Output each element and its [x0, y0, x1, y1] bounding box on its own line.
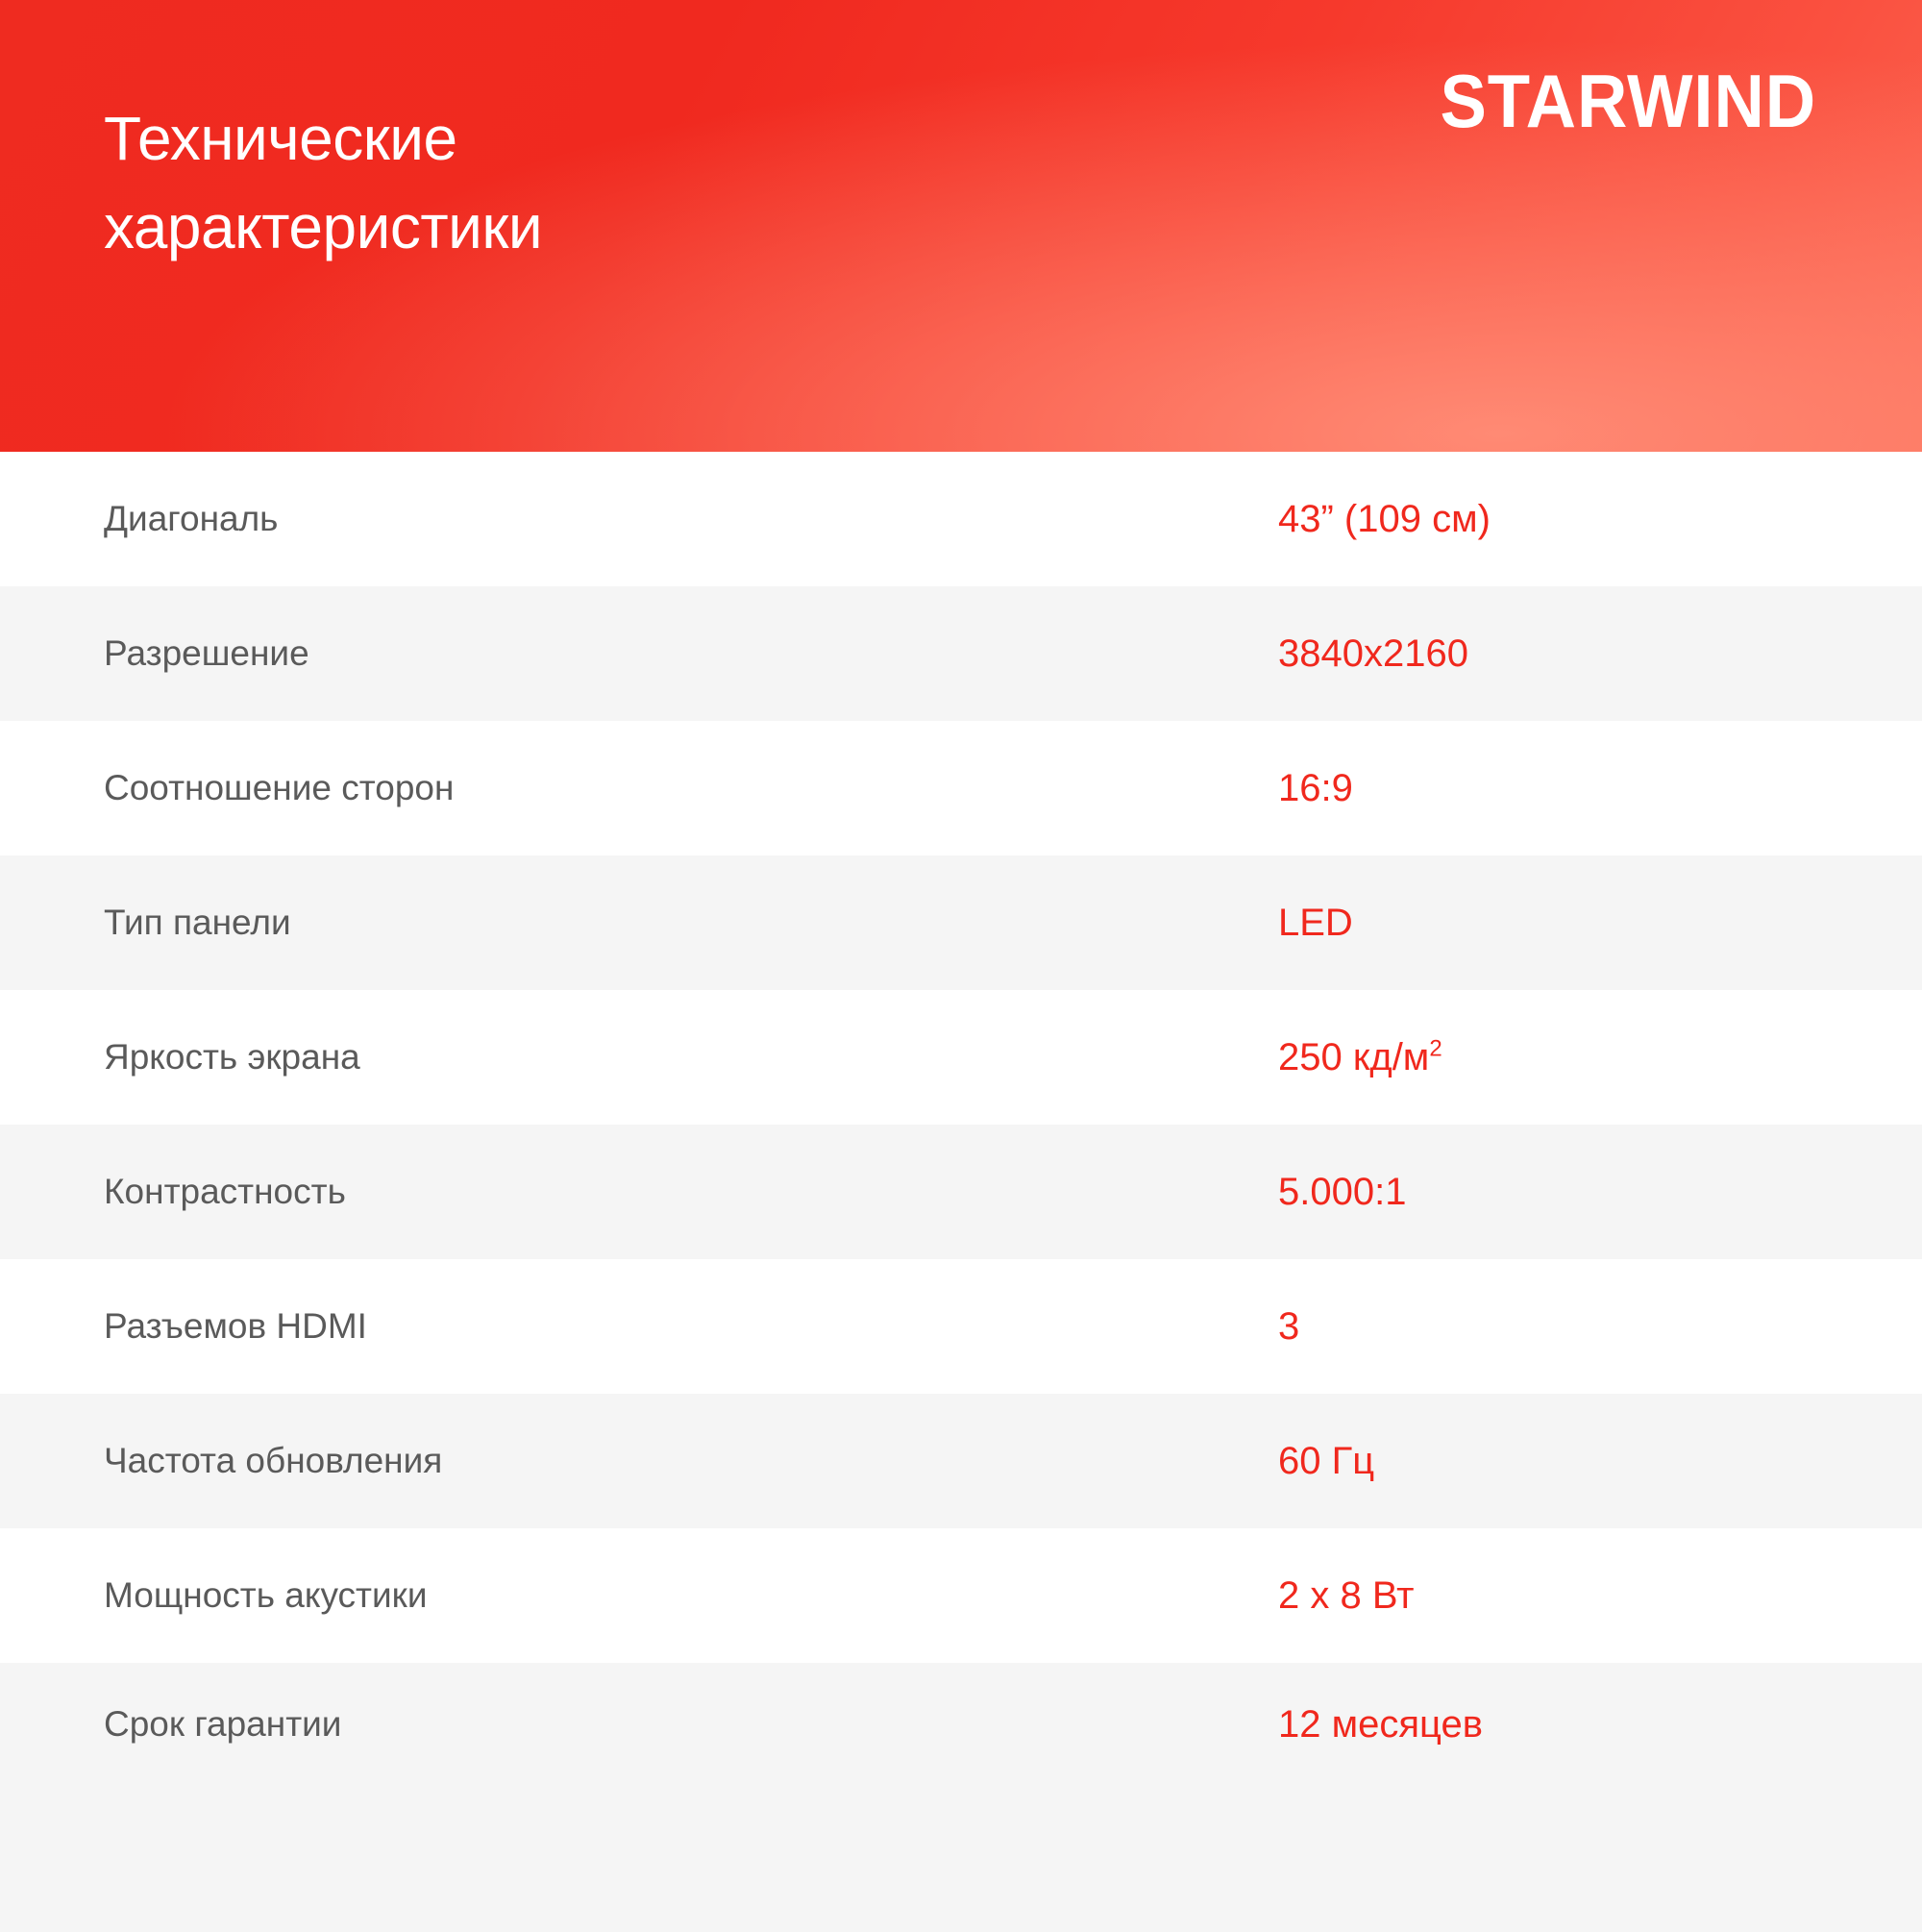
- spec-value: 5.000:1: [1278, 1169, 1406, 1215]
- specifications-table: Диагональ43” (109 см)Разрешение3840x2160…: [0, 452, 1922, 1922]
- spec-row: Диагональ43” (109 см): [0, 452, 1922, 586]
- page-header: Технические характеристики STARWIND: [0, 0, 1922, 452]
- spec-value: 3: [1278, 1303, 1299, 1350]
- superscript-two: 2: [1429, 1036, 1441, 1062]
- spec-label: Срок гарантии: [104, 1701, 341, 1747]
- spec-row: Соотношение сторон16:9: [0, 721, 1922, 855]
- spec-label: Мощность акустики: [104, 1573, 428, 1619]
- spec-row: Тип панелиLED: [0, 855, 1922, 990]
- spec-row: Разъемов HDMI3: [0, 1259, 1922, 1394]
- spec-row: Срок гарантии12 месяцев: [0, 1663, 1922, 1932]
- spec-value: 60 Гц: [1278, 1438, 1374, 1484]
- spec-value: 250 кд/м2: [1278, 1034, 1442, 1080]
- spec-value: LED: [1278, 900, 1353, 946]
- spec-label: Контрастность: [104, 1169, 346, 1215]
- spec-row: Частота обновления60 Гц: [0, 1394, 1922, 1528]
- spec-label: Яркость экрана: [104, 1034, 360, 1080]
- spec-label: Соотношение сторон: [104, 765, 454, 811]
- spec-label: Разрешение: [104, 631, 309, 677]
- spec-row: Контрастность5.000:1: [0, 1125, 1922, 1259]
- spec-value: 43” (109 см): [1278, 496, 1491, 542]
- spec-value: 2 x 8 Вт: [1278, 1573, 1415, 1619]
- spec-value: 3840x2160: [1278, 631, 1468, 677]
- spec-value: 16:9: [1278, 765, 1353, 811]
- starwind-logo: STARWIND: [1440, 63, 1816, 138]
- spec-row: Мощность акустики2 x 8 Вт: [0, 1528, 1922, 1663]
- spec-row: Разрешение3840x2160: [0, 586, 1922, 721]
- spec-row: Яркость экрана250 кд/м2: [0, 990, 1922, 1125]
- spec-label: Диагональ: [104, 496, 278, 542]
- spec-label: Частота обновления: [104, 1438, 442, 1484]
- spec-label: Разъемов HDMI: [104, 1303, 367, 1350]
- spec-value: 12 месяцев: [1278, 1701, 1483, 1747]
- page-title: Технические характеристики: [104, 94, 542, 271]
- spec-label: Тип панели: [104, 900, 291, 946]
